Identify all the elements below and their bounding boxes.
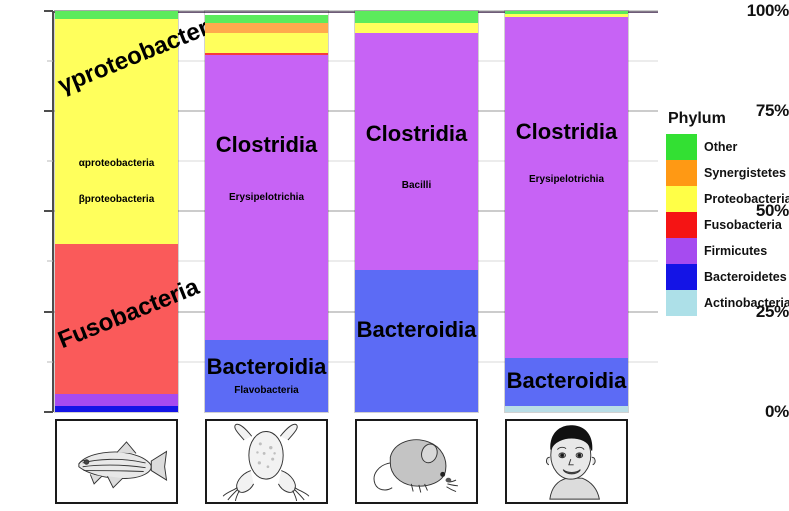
segment-zebrafish-proteobacteria: γproteobacteria αproteobacteria βproteob… bbox=[55, 19, 178, 244]
y-axis-label-0: 0% bbox=[741, 402, 789, 422]
label-bacilli: Bacilli bbox=[355, 180, 478, 191]
y-tick-minor-37 bbox=[47, 261, 53, 262]
label-bacteroidia: Bacteroidia bbox=[505, 368, 628, 394]
segment-zebrafish-bacteroidetes bbox=[55, 406, 178, 412]
segment-human-bacteroidetes: Bacteroidia bbox=[505, 358, 628, 406]
segment-zebrafish-other bbox=[55, 11, 178, 19]
label-gammaproteobacteria: γproteobacteria bbox=[54, 28, 179, 100]
legend-swatch-actinobacteria bbox=[666, 290, 697, 316]
legend-item-proteobacteria[interactable]: Proteobacteria bbox=[666, 186, 789, 212]
y-tick-0 bbox=[44, 411, 53, 413]
y-tick-minor-87 bbox=[47, 61, 53, 62]
legend-label-bacteroidetes: Bacteroidetes bbox=[704, 270, 787, 284]
segment-frog-fusobacteria bbox=[205, 53, 328, 55]
segment-mouse-bacteroidetes: Bacteroidia bbox=[355, 270, 478, 412]
legend-label-other: Other bbox=[704, 140, 737, 154]
label-clostridia: Clostridia bbox=[355, 121, 478, 147]
legend-label-firmicutes: Firmicutes bbox=[704, 244, 767, 258]
label-flavobacteria: Flavobacteria bbox=[205, 385, 328, 396]
zebrafish-illustration bbox=[55, 419, 178, 504]
y-tick-75 bbox=[44, 110, 53, 112]
legend-item-firmicutes[interactable]: Firmicutes bbox=[666, 238, 789, 264]
y-tick-25 bbox=[44, 311, 53, 313]
label-bacteroidia: Bacteroidia bbox=[355, 317, 478, 343]
y-tick-minor-62 bbox=[47, 161, 53, 162]
label-clostridia: Clostridia bbox=[505, 119, 628, 145]
y-tick-50 bbox=[44, 210, 53, 212]
legend-label-proteobacteria: Proteobacteria bbox=[704, 192, 789, 206]
legend-label-actinobacteria: Actinobacteria bbox=[704, 296, 789, 310]
segment-mouse-firmicutes: Clostridia Bacilli bbox=[355, 33, 478, 270]
legend-item-actinobacteria[interactable]: Actinobacteria bbox=[666, 290, 789, 316]
legend-item-bacteroidetes[interactable]: Bacteroidetes bbox=[666, 264, 789, 290]
label-clostridia: Clostridia bbox=[205, 132, 328, 158]
label-erysipelotrichia: Erysipelotrichia bbox=[205, 192, 328, 203]
human-child-illustration bbox=[505, 419, 628, 504]
bar-frog: Bacteroidia Flavobacteria Clostridia Ery… bbox=[205, 11, 328, 412]
bar-human: Bacteroidia Clostridia Erysipelotrichia bbox=[505, 11, 628, 412]
legend-swatch-other bbox=[666, 134, 697, 160]
legend-title: Phylum bbox=[668, 110, 789, 128]
segment-frog-bacteroidetes: Bacteroidia Flavobacteria bbox=[205, 340, 328, 412]
y-axis-label-100: 100% bbox=[741, 1, 789, 21]
label-betaproteobacteria: βproteobacteria bbox=[55, 194, 178, 205]
legend-item-synergistetes[interactable]: Synergistetes bbox=[666, 160, 789, 186]
legend-item-other[interactable]: Other bbox=[666, 134, 789, 160]
bar-mouse: Bacteroidia Clostridia Bacilli bbox=[355, 11, 478, 412]
label-alphaproteobacteria: αproteobacteria bbox=[55, 158, 178, 169]
segment-zebrafish-fusobacteria: Fusobacteria bbox=[55, 244, 178, 394]
label-bacteroidia: Bacteroidia bbox=[205, 354, 328, 380]
y-tick-minor-12 bbox=[47, 362, 53, 363]
legend-label-synergistetes: Synergistetes bbox=[704, 166, 786, 180]
legend-swatch-fusobacteria bbox=[666, 212, 697, 238]
segment-frog-other bbox=[205, 15, 328, 23]
segment-human-proteobacteria bbox=[505, 14, 628, 17]
segment-frog-proteobacteria bbox=[205, 33, 328, 53]
bar-zebrafish: Fusobacteria γproteobacteria αproteobact… bbox=[55, 11, 178, 412]
frog-illustration bbox=[205, 419, 328, 504]
y-tick-100 bbox=[44, 10, 53, 12]
legend-swatch-synergistetes bbox=[666, 160, 697, 186]
segment-frog-synergistetes bbox=[205, 23, 328, 33]
stacked-bar-chart: 100% 75% 50% 25% 0% Fusobacteria γproteo… bbox=[0, 0, 789, 511]
label-erysipelotrichia: Erysipelotrichia bbox=[505, 174, 628, 185]
segment-zebrafish-firmicutes bbox=[55, 394, 178, 406]
mouse-illustration bbox=[355, 419, 478, 504]
label-fusobacteria: Fusobacteria bbox=[54, 283, 179, 355]
segment-human-actinobacteria bbox=[505, 406, 628, 412]
segment-mouse-proteobacteria bbox=[355, 23, 478, 33]
legend-swatch-bacteroidetes bbox=[666, 264, 697, 290]
segment-human-firmicutes: Clostridia Erysipelotrichia bbox=[505, 17, 628, 358]
legend: Phylum Other Synergistetes Proteobacteri… bbox=[666, 110, 789, 316]
legend-swatch-proteobacteria bbox=[666, 186, 697, 212]
segment-frog-firmicutes: Clostridia Erysipelotrichia bbox=[205, 55, 328, 340]
segment-mouse-other bbox=[355, 11, 478, 23]
legend-item-fusobacteria[interactable]: Fusobacteria bbox=[666, 212, 789, 238]
legend-label-fusobacteria: Fusobacteria bbox=[704, 218, 782, 232]
segment-human-other bbox=[505, 11, 628, 14]
legend-swatch-firmicutes bbox=[666, 238, 697, 264]
